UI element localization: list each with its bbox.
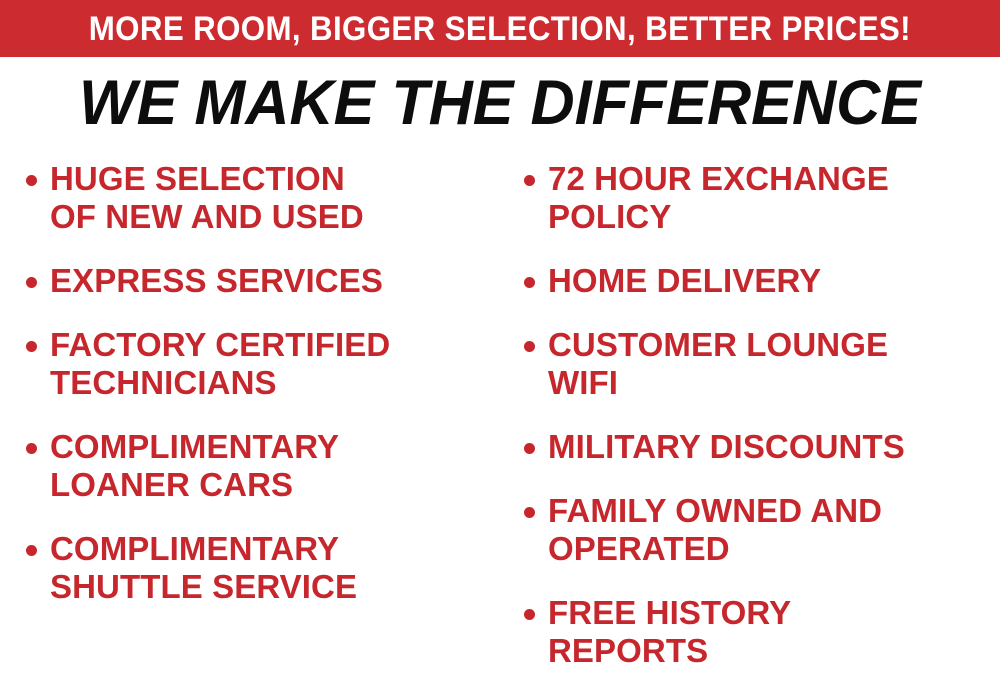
top-banner: MORE ROOM, BIGGER SELECTION, BETTER PRIC…	[0, 0, 1000, 57]
benefit-item: FAMILY OWNED AND OPERATED	[512, 492, 1000, 568]
bullet-dot-icon	[524, 507, 535, 518]
bullet-dot-icon	[26, 545, 37, 556]
benefit-item-label: CUSTOMER LOUNGE WIFI	[548, 326, 1000, 402]
bullet-dot-icon	[524, 609, 535, 620]
bullet-dot-icon	[26, 443, 37, 454]
benefit-item: CUSTOMER LOUNGE WIFI	[512, 326, 1000, 402]
bullet-dot-icon	[524, 175, 535, 186]
benefit-item: FACTORY CERTIFIED TECHNICIANS	[14, 326, 504, 402]
promotional-poster: MORE ROOM, BIGGER SELECTION, BETTER PRIC…	[0, 0, 1000, 694]
benefit-item: MILITARY DISCOUNTS	[512, 428, 1000, 466]
bullet-dot-icon	[26, 277, 37, 288]
benefit-item-label: FREE HISTORY REPORTS	[548, 594, 1000, 670]
benefit-item: COMPLIMENTARY SHUTTLE SERVICE	[14, 530, 504, 606]
benefit-item-label: MILITARY DISCOUNTS	[548, 428, 1000, 466]
benefit-item-label: COMPLIMENTARY LOANER CARS	[50, 428, 504, 504]
bullet-dot-icon	[524, 341, 535, 352]
banner-headline: MORE ROOM, BIGGER SELECTION, BETTER PRIC…	[89, 12, 911, 46]
benefit-item: COMPLIMENTARY LOANER CARS	[14, 428, 504, 504]
bullet-dot-icon	[26, 175, 37, 186]
benefit-item-label: HUGE SELECTION OF NEW AND USED	[50, 160, 504, 236]
benefit-item-label: EXPRESS SERVICES	[50, 262, 504, 300]
bullet-dot-icon	[524, 277, 535, 288]
benefit-item-label: HOME DELIVERY	[548, 262, 1000, 300]
benefit-item: HUGE SELECTION OF NEW AND USED	[14, 160, 504, 236]
benefit-item-label: FACTORY CERTIFIED TECHNICIANS	[50, 326, 504, 402]
bullet-dot-icon	[26, 341, 37, 352]
page-title: WE MAKE THE DIFFERENCE	[15, 72, 985, 135]
benefit-item-label: FAMILY OWNED AND OPERATED	[548, 492, 1000, 568]
benefit-item: FREE HISTORY REPORTS	[512, 594, 1000, 670]
benefit-item-label: 72 HOUR EXCHANGE POLICY	[548, 160, 1000, 236]
benefits-column-right: 72 HOUR EXCHANGE POLICYHOME DELIVERYCUST…	[512, 160, 1000, 694]
benefit-item: 72 HOUR EXCHANGE POLICY	[512, 160, 1000, 236]
benefit-item: HOME DELIVERY	[512, 262, 1000, 300]
benefit-item-label: COMPLIMENTARY SHUTTLE SERVICE	[50, 530, 504, 606]
benefit-item: EXPRESS SERVICES	[14, 262, 504, 300]
bullet-dot-icon	[524, 443, 535, 454]
benefits-column-left: HUGE SELECTION OF NEW AND USEDEXPRESS SE…	[14, 160, 504, 632]
